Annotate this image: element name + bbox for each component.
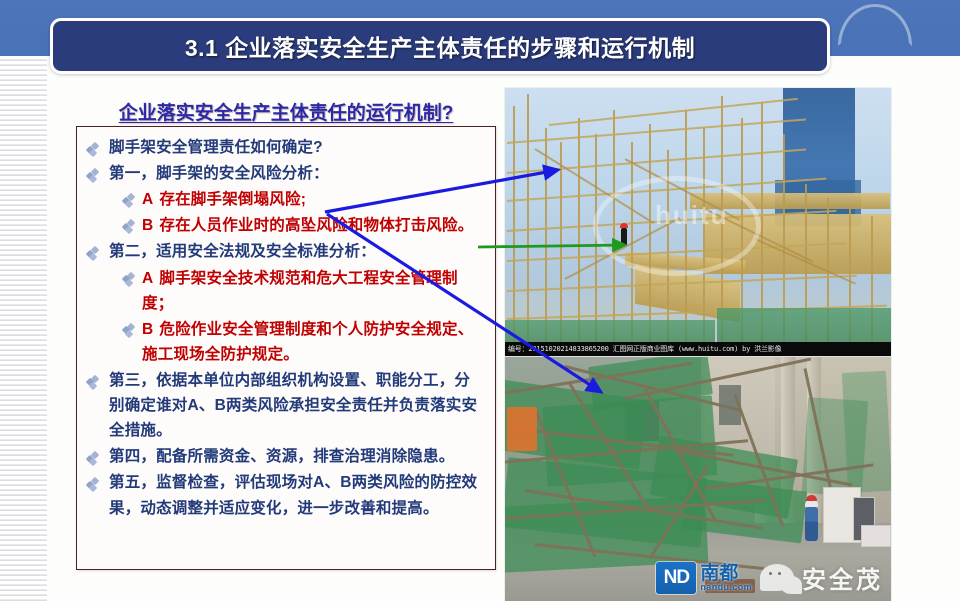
item-key: A [142,270,153,287]
list-item: 第五，监督检查，评估现场对A、B两类风险的防控效果，动态调整并适应变化，进一步改… [83,470,485,520]
nandu-name-en: nandu.com [700,583,752,592]
section-heading: 企业落实安全生产主体责任的运行机制? [76,98,496,125]
list-item-label: B存在人员作业时的高坠风险和物体打击风险。 [142,213,473,238]
page-title: 3.1 企业落实安全生产主体责任的步骤和运行机制 [185,29,695,63]
nandu-mark-icon: ND [656,562,696,594]
photo-caption: 编号：20151020214833865200 汇图网正版商业图库 (www.h… [505,342,891,356]
debris-pile [861,525,891,547]
slide-title-bar: 3.1 企业落实安全生产主体责任的步骤和运行机制 [50,18,830,74]
list-item: B存在人员作业时的高坠风险和物体打击风险。 [83,213,485,238]
safety-net [717,308,891,346]
item-body: 存在人员作业时的高坠风险和物体打击风险。 [159,217,473,234]
nandu-name-cn: 南都 [700,564,752,583]
worker-figure [805,507,818,541]
nandu-wordmark: 南都 nandu.com [700,564,752,592]
slide-root: 3.1 企业落实安全生产主体责任的步骤和运行机制 企业落实安全生产主体责任的运行… [0,0,960,601]
item-body: 存在脚手架倒塌风险; [159,191,306,208]
list-item: 第四，配备所需资金、资源，排查治理消除隐患。 [83,444,485,469]
diamond-bullet-icon [87,376,100,389]
list-item-label: 脚手架安全管理责任如何确定? [109,135,323,160]
list-item-label: 第四，配备所需资金、资源，排查治理消除隐患。 [109,444,454,469]
list-item: B危险作业安全管理制度和个人防护安全规定、施工现场全防护规定。 [83,317,485,367]
channel-name: 安全茂 [802,560,883,595]
diamond-bullet-icon [87,143,100,156]
orange-barrier [507,407,537,451]
list-item: A脚手架安全技术规范和危大工程安全管理制度； [83,266,485,316]
list-item-label: 第一，脚手架的安全风险分析： [109,161,329,186]
item-key: A [142,191,153,208]
list-item-label: 第三，依据本单位内部组织机构设置、职能分工，分别确定谁对A、B两类风险承担安全责… [109,368,485,443]
item-key: B [142,217,153,234]
diamond-bullet-icon [123,273,134,284]
left-stripe-overlay [0,56,47,601]
list-item-label: A存在脚手架倒塌风险; [142,187,306,212]
wechat-icon [760,564,794,591]
diamond-bullet-icon [87,478,100,491]
stock-watermark-text: huitu [655,200,729,231]
list-item-label: B危险作业安全管理制度和个人防护安全规定、施工现场全防护规定。 [142,317,485,367]
list-item-label: 第五，监督检查，评估现场对A、B两类风险的防控效果，动态调整并适应变化，进一步改… [109,470,485,520]
diamond-bullet-icon [123,220,134,231]
list-item: 第三，依据本单位内部组织机构设置、职能分工，分别确定谁对A、B两类风险承担安全责… [83,368,485,443]
item-key: B [142,321,153,338]
list-item: 第二，适用安全法规及安全标准分析： [83,239,485,264]
list-item-label: A脚手架安全技术规范和危大工程安全管理制度； [142,266,485,316]
list-item-label: 第二，适用安全法规及安全标准分析： [109,239,376,264]
diamond-bullet-icon [123,194,134,205]
list-item: A存在脚手架倒塌风险; [83,187,485,212]
watermark-group: ND 南都 nandu.com 安全茂 [656,560,883,595]
nandu-logo: ND 南都 nandu.com [656,562,752,594]
diamond-bullet-icon [87,169,100,182]
photo-scaffold-collapse: ND 南都 nandu.com 安全茂 [505,357,891,601]
photo-scaffolding-site: huitu 编号：20151020214833865200 汇图网正版商业图库 … [505,88,891,356]
diamond-bullet-icon [87,247,100,260]
diamond-bullet-icon [123,324,134,335]
item-body: 脚手架安全技术规范和危大工程安全管理制度； [142,270,458,312]
content-list-box: 脚手架安全管理责任如何确定? 第一，脚手架的安全风险分析： A存在脚手架倒塌风险… [76,126,496,570]
list-item: 脚手架安全管理责任如何确定? [83,135,485,160]
diamond-bullet-icon [87,452,100,465]
list-item: 第一，脚手架的安全风险分析： [83,161,485,186]
item-body: 危险作业安全管理制度和个人防护安全规定、施工现场全防护规定。 [142,321,473,363]
